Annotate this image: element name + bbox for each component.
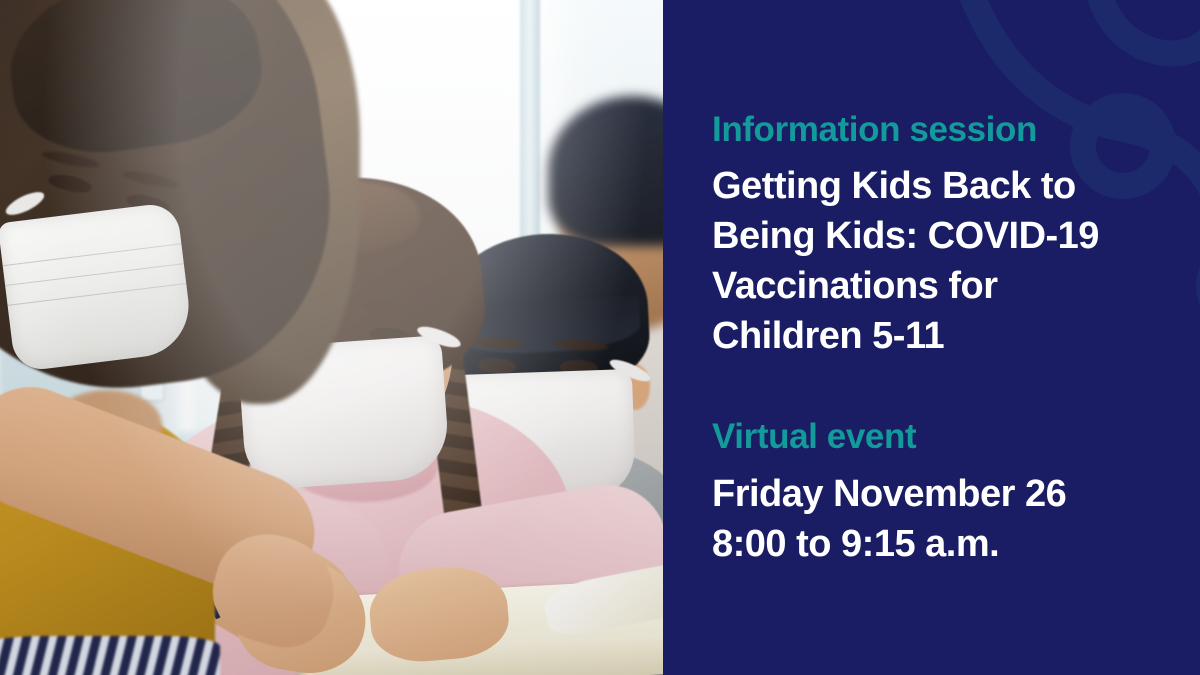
event-date: Friday November 26 — [712, 469, 1162, 519]
page-title-line: Children 5-11 — [712, 311, 1162, 361]
eyebrow-information-session: Information session — [712, 112, 1037, 147]
page-title-line: Vaccinations for — [712, 261, 1162, 311]
panel-text-block: Information session Getting Kids Back to… — [712, 0, 1182, 675]
girl-yellow-face-mask — [0, 202, 194, 373]
page-title-line: Being Kids: COVID-19 — [712, 211, 1162, 261]
info-panel: Information session Getting Kids Back to… — [663, 0, 1200, 675]
girl-yellow-skirt — [0, 636, 220, 675]
classroom-photo — [0, 0, 663, 675]
page-title: Getting Kids Back to Being Kids: COVID-1… — [712, 161, 1162, 361]
event-details: Friday November 26 8:00 to 9:15 a.m. — [712, 469, 1162, 569]
event-promo-poster: Information session Getting Kids Back to… — [0, 0, 1200, 675]
event-time: 8:00 to 9:15 a.m. — [712, 519, 1162, 569]
page-title-line: Getting Kids Back to — [712, 161, 1162, 211]
eyebrow-virtual-event: Virtual event — [712, 419, 916, 454]
